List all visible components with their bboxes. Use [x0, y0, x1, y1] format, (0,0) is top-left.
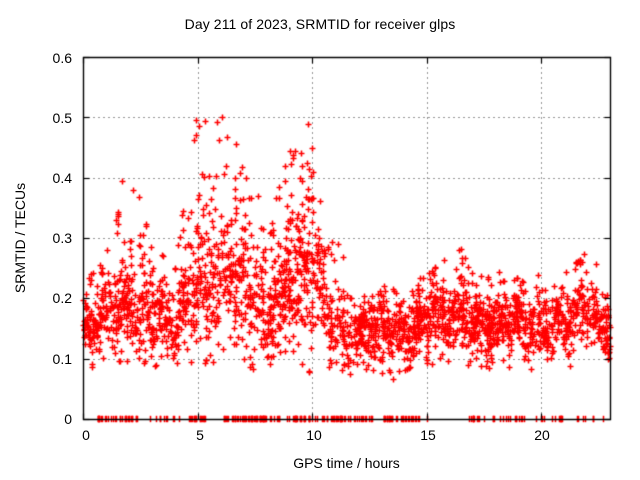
- y-tick-label-0: 0: [26, 411, 72, 427]
- scatter-plot-figure: Day 211 of 2023, SRMTID for receiver glp…: [0, 0, 640, 480]
- x-tick-label-0: 0: [66, 427, 106, 443]
- y-tick-label-0.5: 0.5: [26, 110, 72, 126]
- x-tick-label-10: 10: [294, 427, 334, 443]
- plot-canvas: [0, 0, 640, 480]
- y-tick-label-0.1: 0.1: [26, 351, 72, 367]
- y-tick-label-0.3: 0.3: [26, 230, 72, 246]
- y-tick-label-0.4: 0.4: [26, 170, 72, 186]
- x-tick-label-15: 15: [408, 427, 448, 443]
- y-tick-label-0.2: 0.2: [26, 290, 72, 306]
- x-tick-label-5: 5: [180, 427, 220, 443]
- x-tick-label-20: 20: [522, 427, 562, 443]
- x-axis-label: GPS time / hours: [83, 455, 610, 471]
- y-tick-label-0.6: 0.6: [26, 50, 72, 66]
